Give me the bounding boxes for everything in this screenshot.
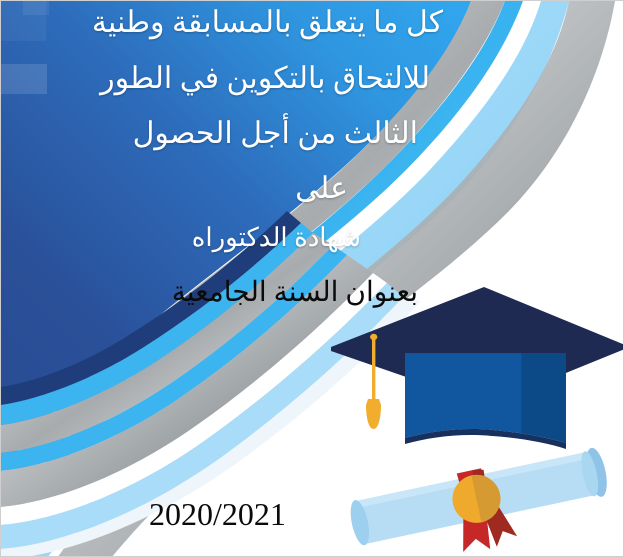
poster-canvas: كل ما يتعلق بالمسابقة وطنية للالتحاق بال…: [0, 0, 624, 557]
degree-line: شهادة الدكتوراه: [192, 223, 361, 253]
headline-line-3: الثالث من أجل الحصول: [133, 116, 418, 151]
academic-year-value: 2020/2021: [149, 496, 286, 533]
academic-year-label: بعنوان السنة الجامعية: [172, 275, 418, 309]
headline-line-4: على: [295, 171, 348, 206]
headline-line-1: كل ما يتعلق بالمسابقة وطنية: [92, 5, 443, 40]
headline-line-2: للالتحاق بالتكوين في الطور: [100, 61, 430, 96]
